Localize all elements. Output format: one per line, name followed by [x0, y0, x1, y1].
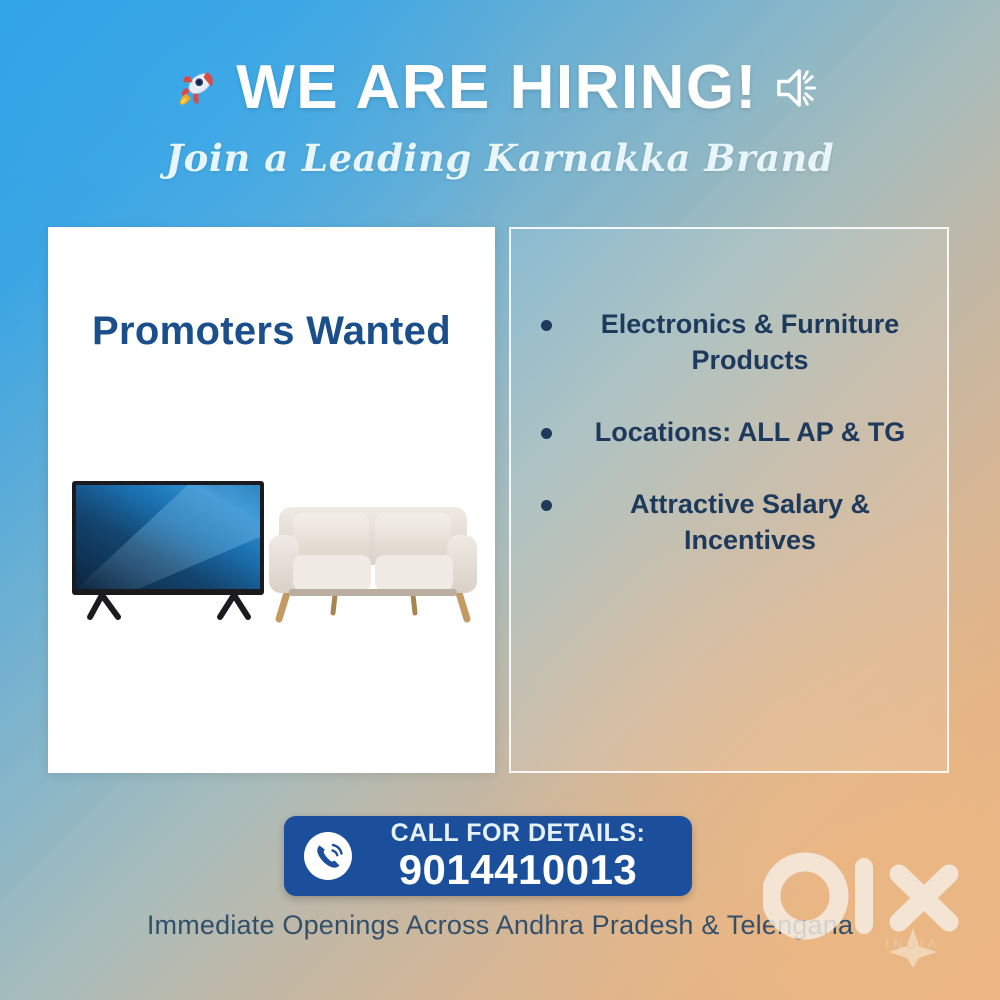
list-item: Attractive Salary & Incentives	[533, 487, 929, 559]
poster-header: WE ARE HIRING! Join a Leading Karnakka B…	[0, 52, 1000, 180]
hiring-poster: WE ARE HIRING! Join a Leading Karnakka B…	[0, 0, 1000, 1000]
bullet-dot-icon	[541, 500, 552, 511]
list-item: Locations: ALL AP & TG	[533, 415, 929, 451]
rocket-icon	[174, 65, 220, 111]
benefit-text: Attractive Salary & Incentives	[630, 489, 870, 555]
call-for-details-banner[interactable]: CALL FOR DETAILS: 9014410013	[284, 816, 692, 896]
phone-icon	[302, 830, 354, 882]
benefit-text: Locations: ALL AP & TG	[595, 417, 906, 447]
olx-watermark: INDIA	[763, 840, 978, 970]
list-item: Electronics & Furniture Products	[533, 307, 929, 379]
call-label: CALL FOR DETAILS:	[354, 820, 682, 846]
details-panel: Electronics & Furniture Products Locatio…	[509, 227, 949, 773]
footer-note: Immediate Openings Across Andhra Pradesh…	[0, 910, 1000, 941]
television-image	[68, 477, 268, 622]
call-banner-text: CALL FOR DETAILS: 9014410013	[354, 820, 692, 891]
product-card: Promoters Wanted	[48, 227, 495, 773]
headline-row: WE ARE HIRING!	[0, 52, 1000, 124]
speaker-icon	[774, 65, 826, 111]
bullet-dot-icon	[541, 320, 552, 331]
page-title: WE ARE HIRING!	[236, 57, 758, 119]
product-card-title: Promoters Wanted	[48, 309, 495, 354]
benefits-list: Electronics & Furniture Products Locatio…	[511, 229, 947, 559]
sofa-image	[263, 495, 483, 625]
page-subtitle: Join a Leading Karnakka Brand	[0, 136, 1000, 180]
bullet-dot-icon	[541, 428, 552, 439]
phone-number[interactable]: 9014410013	[354, 848, 682, 892]
benefit-text: Electronics & Furniture Products	[601, 309, 900, 375]
product-images	[48, 477, 495, 637]
